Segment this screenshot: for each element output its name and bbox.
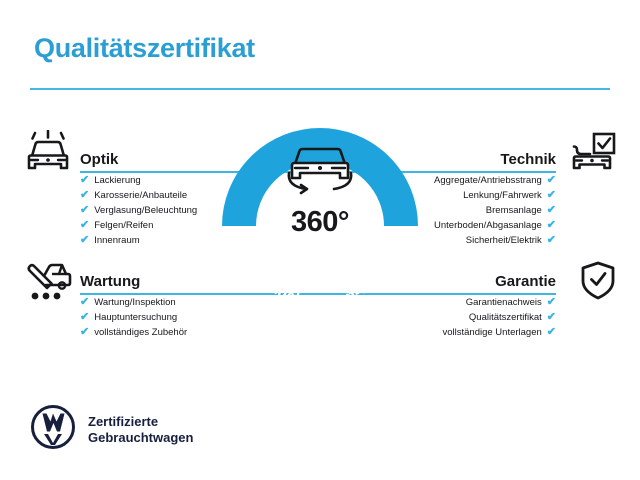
car-wrench-icon: [22, 258, 74, 304]
list-item-label: Bremsanlage: [486, 203, 542, 218]
vw-lockup-line2: Gebrauchtwagen: [88, 430, 193, 446]
list-item: vollständige Unterlagen✔: [318, 325, 556, 340]
check-icon: ✔: [547, 190, 556, 201]
list-item-label: vollständige Unterlagen: [442, 325, 541, 340]
check-icon: ✔: [547, 235, 556, 246]
list-item-label: Wartung/Inspektion: [94, 295, 176, 310]
list-item-label: Garantienachweis: [466, 295, 542, 310]
vw-lockup-line1: Zertifizierte: [88, 414, 193, 430]
list-item-label: Qualitätszertifikat: [469, 310, 542, 325]
check-icon: ✔: [547, 175, 556, 186]
check-icon: ✔: [80, 312, 89, 323]
check-icon: ✔: [80, 220, 89, 231]
section-technik-title: Technik: [500, 151, 556, 168]
quality-certificate-page: Qualitätszertifikat: [0, 0, 640, 480]
badge-center-label: 360°: [222, 206, 418, 239]
list-item-label: Hauptuntersuchung: [94, 310, 177, 325]
title-divider: [30, 88, 610, 90]
vw-logo-icon: [30, 404, 76, 455]
list-item-label: Unterboden/Abgasanlage: [434, 218, 542, 233]
list-item-label: Sicherheit/Elektrik: [466, 233, 542, 248]
check-icon: ✔: [80, 297, 89, 308]
list-item-label: vollständiges Zubehör: [94, 325, 187, 340]
list-item-label: Karosserie/Anbauteile: [94, 188, 187, 203]
car-checkbox-icon: [566, 130, 618, 176]
check-icon: ✔: [80, 327, 89, 338]
list-item-label: Verglasung/Beleuchtung: [94, 203, 197, 218]
list-item: ✔vollständiges Zubehör: [80, 325, 325, 340]
list-item-label: Lackierung: [94, 173, 140, 188]
check-icon: ✔: [80, 235, 89, 246]
svg-text:Gebrauchtwagen-Check: Gebrauchtwagen-Check: [242, 253, 397, 311]
check-icon: ✔: [547, 327, 556, 338]
section-garantie-title: Garantie: [495, 273, 556, 290]
list-item-label: Aggregate/Antriebsstrang: [434, 173, 542, 188]
page-title: Qualitätszertifikat: [34, 33, 255, 64]
list-item-label: Lenkung/Fahrwerk: [463, 188, 542, 203]
check-icon: ✔: [547, 297, 556, 308]
check-icon: ✔: [80, 175, 89, 186]
shield-check-icon: [572, 258, 624, 304]
car-shine-icon: [22, 130, 74, 176]
check-icon: ✔: [547, 312, 556, 323]
list-item-label: Felgen/Reifen: [94, 218, 153, 233]
section-optik-title: Optik: [80, 151, 118, 168]
check-icon: ✔: [80, 205, 89, 216]
list-item-label: Innenraum: [94, 233, 139, 248]
badge-arc-label: Gebrauchtwagen-Check: [242, 253, 397, 311]
check-icon: ✔: [547, 220, 556, 231]
vw-certified-lockup: Zertifizierte Gebrauchtwagen: [30, 404, 193, 455]
check-icon: ✔: [80, 190, 89, 201]
vw-lockup-text: Zertifizierte Gebrauchtwagen: [88, 414, 193, 446]
section-wartung-title: Wartung: [80, 273, 140, 290]
check-icon: ✔: [547, 205, 556, 216]
badge-360-gebrauchtwagen-check: Gebrauchtwagen-Check 360°: [222, 118, 418, 318]
